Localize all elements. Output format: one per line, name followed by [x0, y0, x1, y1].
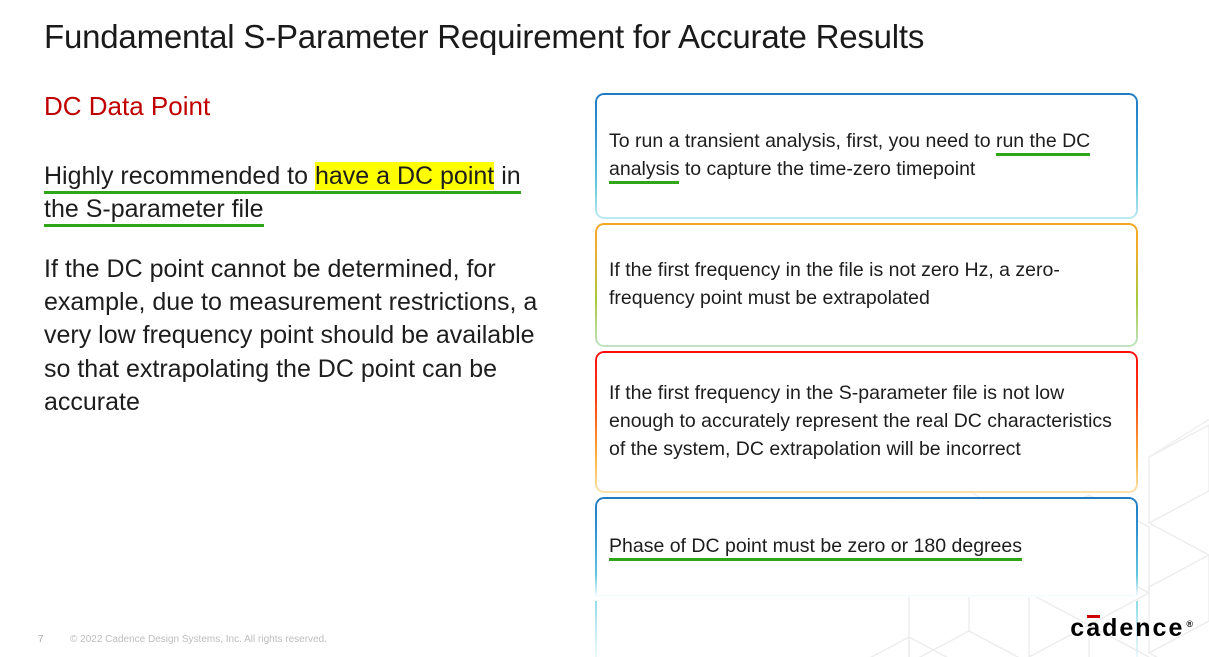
slide: Fundamental S-Parameter Requirement for …: [0, 0, 1209, 657]
callout-dc-extrapolation-incorrect-text: If the first frequency in the S-paramete…: [609, 380, 1124, 463]
callout-phase-dc-point-text: Phase of DC point must be zero or 180 de…: [609, 533, 1022, 561]
lead-paragraph: Highly recommended to have a DC point in…: [44, 160, 544, 227]
lead-paragraph-underlined-span: Highly recommended to have a DC point in…: [44, 162, 521, 228]
callout-1-text-before: To run a transient analysis, first, you …: [609, 130, 996, 152]
lead-text-before: Highly recommended to: [44, 162, 315, 190]
footer-copyright: © 2022 Cadence Design Systems, Inc. All …: [70, 634, 327, 645]
section-heading: DC Data Point: [44, 92, 564, 122]
cadence-logo-macron-accent: [1087, 615, 1100, 618]
cadence-logo: cadence ®: [1070, 614, 1193, 643]
callout-phase-dc-point: Phase of DC point must be zero or 180 de…: [595, 497, 1138, 597]
callout-transient-analysis: To run a transient analysis, first, you …: [595, 93, 1138, 219]
registered-trademark-icon: ®: [1186, 620, 1193, 629]
callout-zero-frequency: If the first frequency in the file is no…: [595, 223, 1138, 347]
callout-zero-frequency-text: If the first frequency in the file is no…: [609, 257, 1124, 312]
lead-text-highlighted: have a DC point: [315, 162, 494, 190]
footer-page-number: 7: [38, 634, 44, 645]
callout-stack-fade-tail: [595, 601, 1138, 657]
cadence-logo-wordmark: cadence: [1070, 614, 1184, 643]
callout-1-text-after: to capture the time-zero timepoint: [679, 158, 975, 180]
callout-4-text-underlined: Phase of DC point must be zero or 180 de…: [609, 535, 1022, 561]
page-title: Fundamental S-Parameter Requirement for …: [44, 18, 924, 56]
tail-stroke-left: [595, 601, 597, 657]
callout-transient-analysis-text: To run a transient analysis, first, you …: [609, 128, 1124, 183]
cadence-logo-text: cadence: [1070, 614, 1184, 642]
callout-stack: To run a transient analysis, first, you …: [595, 93, 1138, 657]
body-paragraph: If the DC point cannot be determined, fo…: [44, 253, 559, 419]
left-content-column: DC Data Point Highly recommended to have…: [44, 92, 564, 419]
callout-dc-extrapolation-incorrect: If the first frequency in the S-paramete…: [595, 351, 1138, 493]
